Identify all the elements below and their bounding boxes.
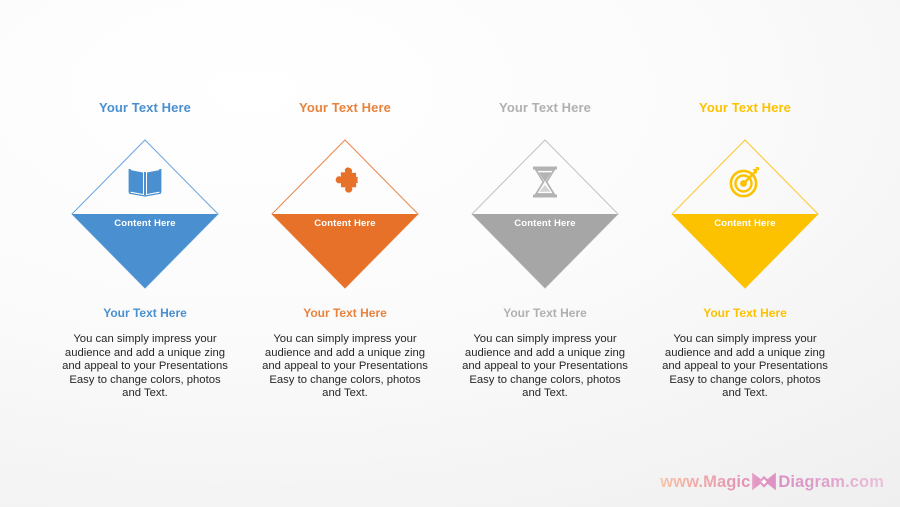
- hourglass-icon: [471, 153, 619, 211]
- body-text-4: You can simply impress your audience and…: [659, 333, 831, 401]
- top-title-1: Your Text Here: [45, 100, 245, 116]
- top-title-4: Your Text Here: [645, 100, 845, 116]
- bottom-title-1: Your Text Here: [45, 306, 245, 321]
- watermark-text-right: Diagram.com: [778, 473, 884, 492]
- infographic-column-3[interactable]: Your Text Here: [445, 0, 645, 507]
- target-arrow-icon: [671, 153, 819, 211]
- body-text-1: You can simply impress your audience and…: [59, 333, 231, 401]
- watermark-text-left: www.Magic: [660, 473, 750, 492]
- slide-canvas: Your Text Here: [0, 0, 900, 507]
- diamond-shape-2[interactable]: Content Here: [271, 139, 419, 289]
- watermark[interactable]: www.Magic Diagram.com: [660, 471, 884, 493]
- diamond-columns-row: Your Text Here: [0, 0, 900, 507]
- content-label-2: Content Here: [271, 218, 419, 229]
- puzzle-piece-icon: [271, 153, 419, 211]
- diamond-shape-4[interactable]: Content Here: [671, 139, 819, 289]
- infographic-column-4[interactable]: Your Text Here: [645, 0, 845, 507]
- bottom-title-3: Your Text Here: [445, 306, 645, 321]
- content-label-4: Content Here: [671, 218, 819, 229]
- diamond-shape-1[interactable]: Content Here: [71, 139, 219, 289]
- open-book-icon: [71, 153, 219, 211]
- infographic-column-2[interactable]: Your Text Here Content Here Your Text He…: [245, 0, 445, 507]
- content-label-1: Content Here: [71, 218, 219, 229]
- top-title-2: Your Text Here: [245, 100, 445, 116]
- body-text-2: You can simply impress your audience and…: [259, 333, 431, 401]
- body-text-3: You can simply impress your audience and…: [459, 333, 631, 401]
- bottom-title-2: Your Text Here: [245, 306, 445, 321]
- content-label-3: Content Here: [471, 218, 619, 229]
- top-title-3: Your Text Here: [445, 100, 645, 116]
- bowtie-diamond-logo-icon: [751, 471, 777, 493]
- diamond-shape-3[interactable]: Content Here: [471, 139, 619, 289]
- bottom-title-4: Your Text Here: [645, 306, 845, 321]
- infographic-column-1[interactable]: Your Text Here: [45, 0, 245, 507]
